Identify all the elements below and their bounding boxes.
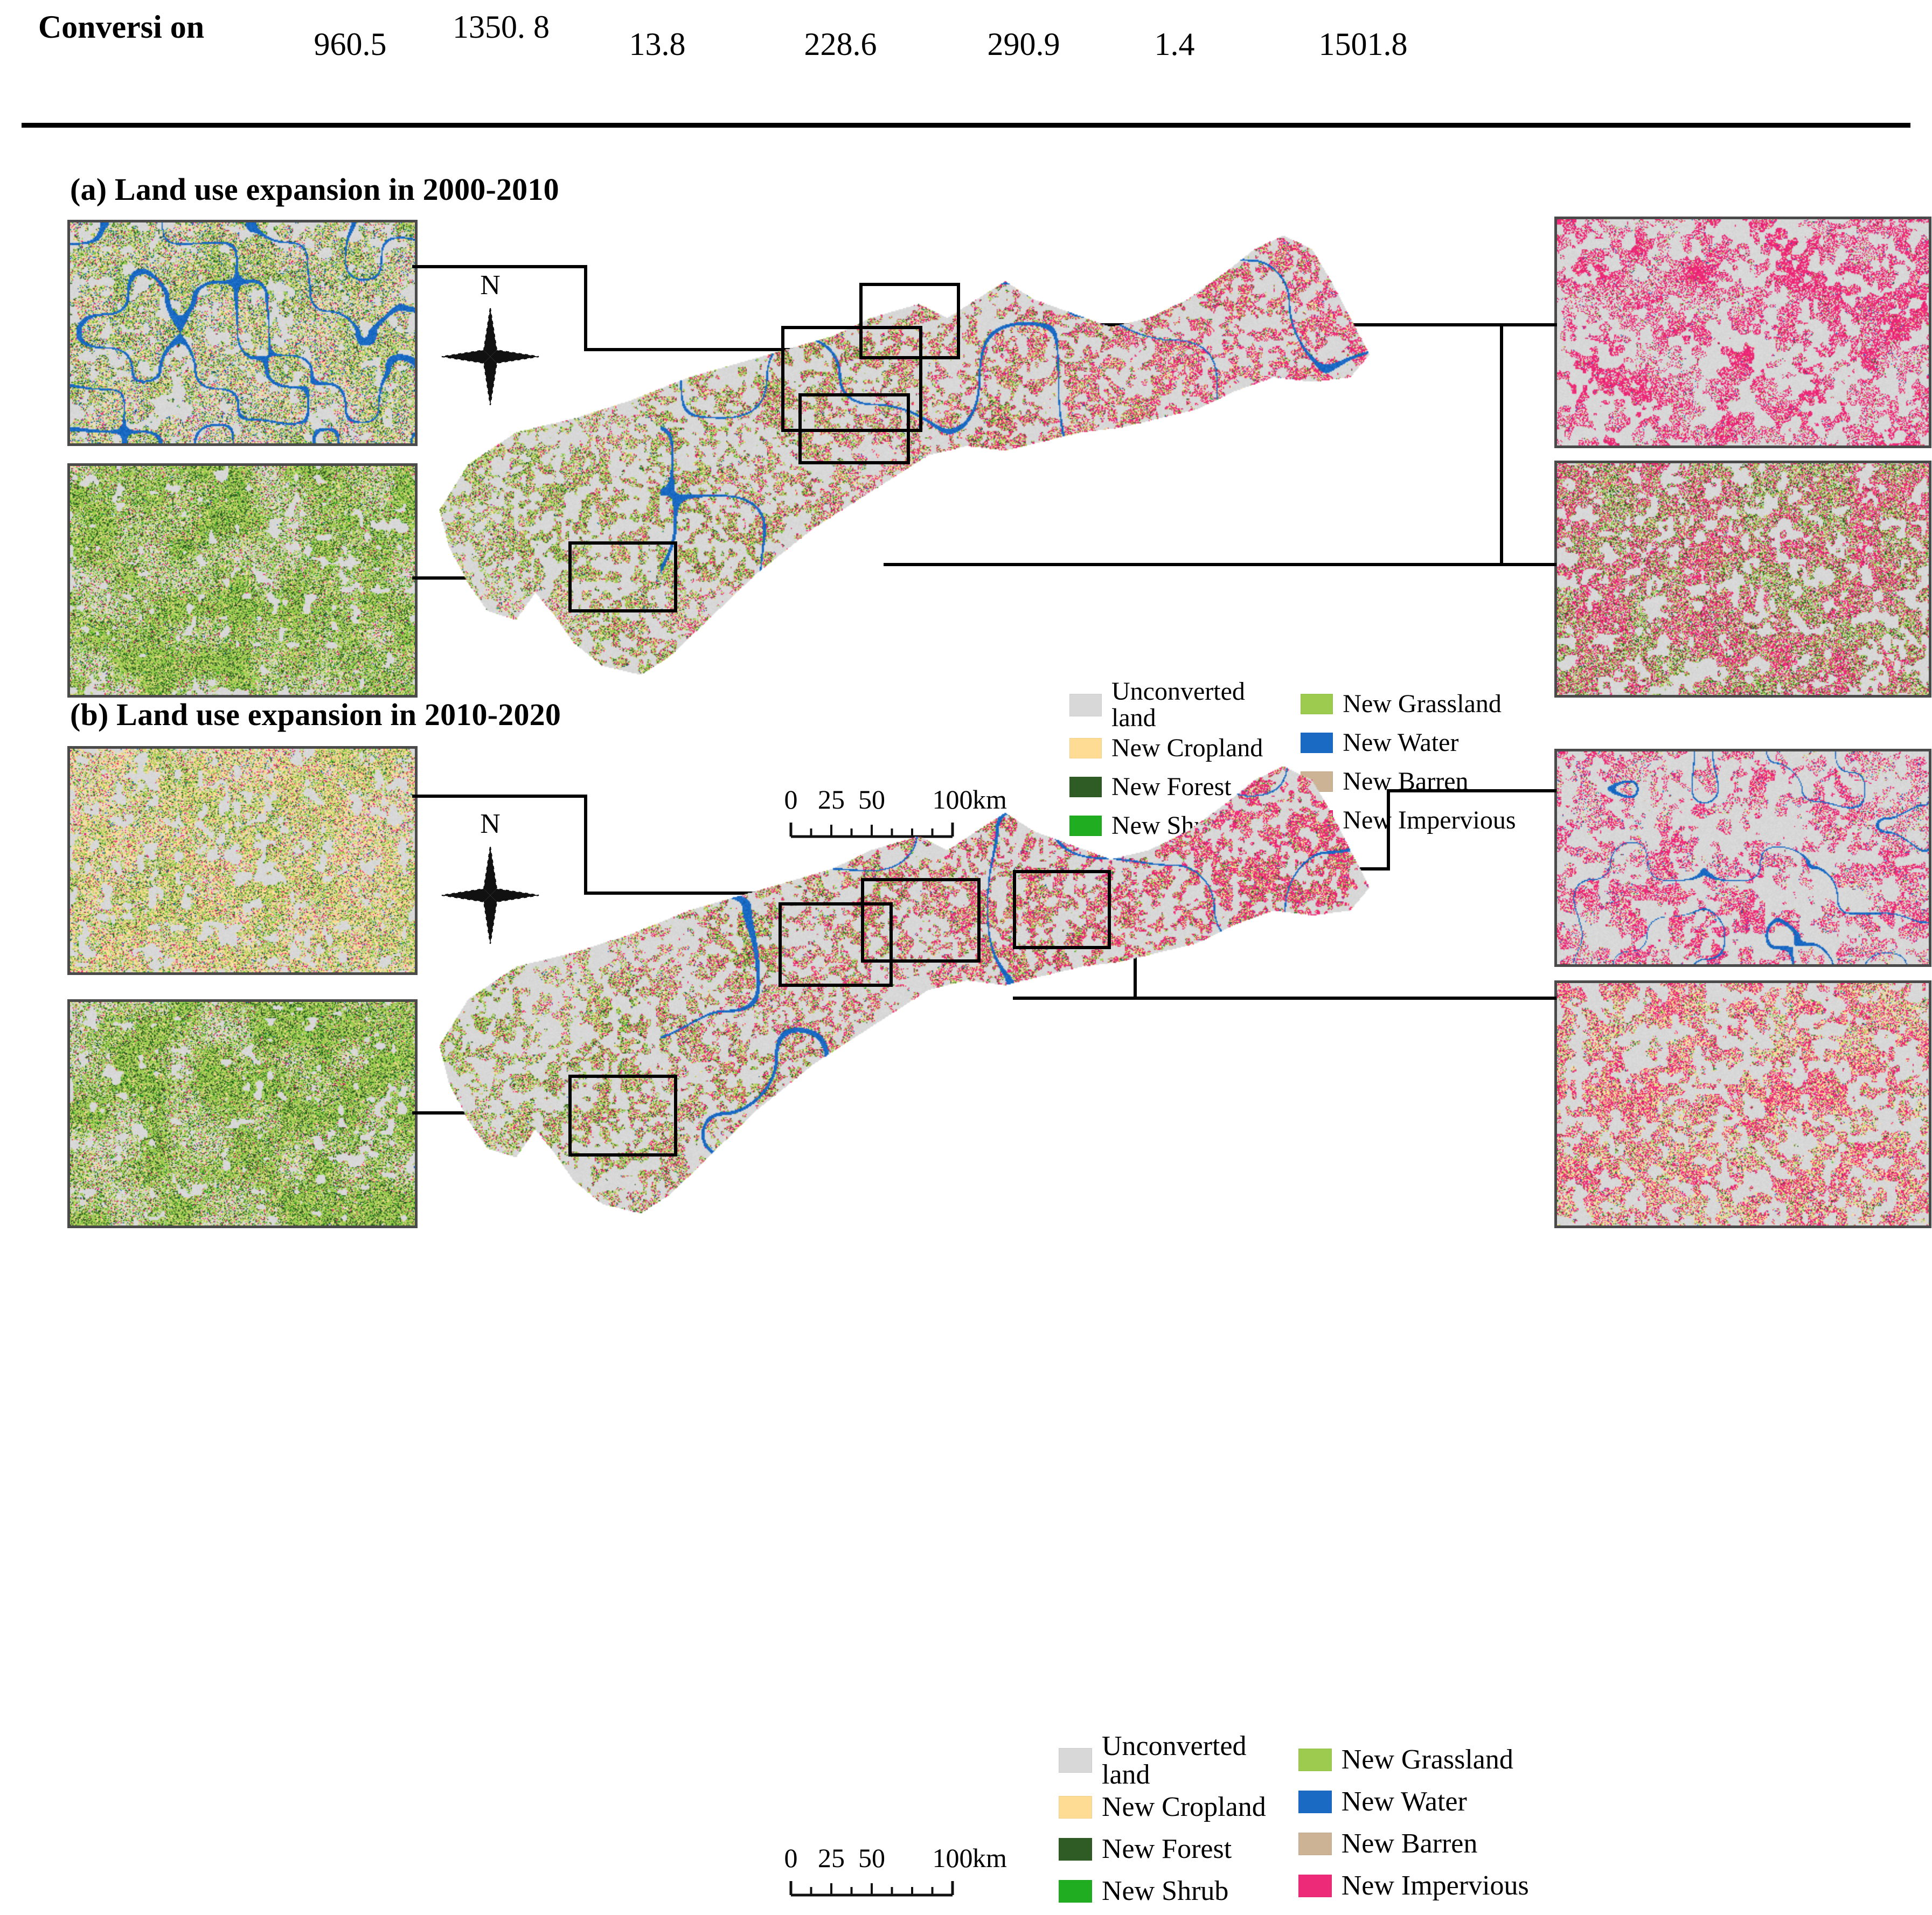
scale-bar-labels: 0 25 50 100 km — [787, 1842, 964, 1876]
panel-b-inset-top-right — [1554, 749, 1931, 967]
panel-a-inset-bottom-left — [67, 463, 418, 698]
panel-b-inset-top-left — [67, 746, 418, 975]
table-cell-value: 290.9 — [948, 27, 1099, 62]
table-cell-value: 960.5 — [280, 27, 420, 62]
locator-box — [568, 541, 677, 612]
panel-b-main-map — [420, 757, 1379, 1223]
legend-item: New Cropland — [1059, 1789, 1266, 1826]
panel-a-north-arrow: N — [436, 269, 544, 409]
panel-a: (a) Land use expansion in 2000-2010 N — [0, 162, 1932, 692]
legend-swatch-new-grassland — [1298, 1749, 1332, 1771]
table-cell-value: 1350. 8 — [447, 10, 555, 45]
locator-box — [798, 393, 910, 464]
panel-b-north-arrow: N — [436, 808, 544, 948]
leader-line — [1387, 789, 1556, 792]
panel-b: (b) Land use expansion in 2010-2020 N — [0, 692, 1932, 1224]
scale-label: 100 — [933, 1842, 973, 1874]
scale-unit: km — [972, 1842, 1007, 1874]
scale-label: 50 — [858, 1842, 885, 1874]
legend-item: New Forest — [1059, 1831, 1266, 1868]
table-cell-value: 228.6 — [765, 27, 916, 62]
panel-b-legend: Unconverted land New Cropland New Forest… — [1059, 1737, 1529, 1915]
north-label: N — [480, 269, 501, 301]
legend-swatch-new-water — [1298, 1791, 1332, 1813]
legend-item: New Grassland — [1298, 1742, 1529, 1778]
legend-label: New Shrub — [1102, 1877, 1228, 1905]
legend-label: New Water — [1342, 1787, 1467, 1816]
leader-line — [1500, 323, 1503, 563]
legend-item: New Water — [1298, 1784, 1529, 1820]
legend-label: New Forest — [1102, 1835, 1232, 1863]
legend-label: New Impervious — [1342, 1871, 1529, 1900]
locator-box — [1013, 870, 1111, 949]
panel-b-inset-bottom-right — [1554, 980, 1931, 1228]
panel-a-inset-top-left — [67, 220, 418, 446]
scale-bar-ticks — [787, 1876, 964, 1899]
legend-swatch-new-forest — [1059, 1838, 1092, 1861]
panel-b-inset-bottom-left — [67, 999, 418, 1228]
locator-box — [861, 878, 981, 963]
legend-column-right: New Grassland New Water New Barren New I… — [1298, 1737, 1529, 1915]
leader-line — [1500, 563, 1556, 566]
panel-a-title: (a) Land use expansion in 2000-2010 — [70, 171, 559, 207]
legend-column-left: Unconverted land New Cropland New Forest… — [1059, 1737, 1266, 1915]
legend-label: New Cropland — [1102, 1793, 1266, 1821]
legend-swatch-new-shrub — [1059, 1880, 1092, 1903]
legend-label: New Grassland — [1342, 1745, 1513, 1774]
table-bottom-rule — [22, 123, 1910, 128]
north-arrow-icon — [436, 841, 544, 949]
table-cell-value: 1.4 — [1121, 27, 1228, 62]
leader-line — [1387, 789, 1390, 870]
legend-item: New Shrub — [1059, 1873, 1266, 1910]
legend-swatch-new-cropland — [1059, 1796, 1092, 1819]
legend-label: New Barren — [1342, 1829, 1478, 1858]
locator-box — [859, 283, 960, 359]
table-cell-value: 13.8 — [593, 27, 722, 62]
legend-item: Unconverted land — [1059, 1737, 1266, 1784]
panel-b-title: (b) Land use expansion in 2010-2020 — [70, 697, 561, 733]
table-row-label: Conversi on — [32, 10, 210, 45]
locator-box — [568, 1075, 677, 1157]
panel-a-inset-bottom-right — [1554, 461, 1931, 698]
legend-swatch-new-barren — [1298, 1833, 1332, 1855]
scale-label: 0 — [784, 1842, 798, 1874]
legend-swatch-unconverted-land — [1059, 1748, 1092, 1773]
panel-b-scale-bar: 0 25 50 100 km — [787, 1842, 964, 1899]
north-arrow-icon — [436, 303, 544, 410]
table-cell-value: 1501.8 — [1266, 27, 1460, 62]
legend-swatch-new-impervious — [1298, 1875, 1332, 1897]
legend-item: New Impervious — [1298, 1868, 1529, 1904]
panel-a-inset-top-right — [1554, 217, 1931, 448]
legend-label: Unconverted land — [1102, 1732, 1247, 1789]
scale-label: 25 — [818, 1842, 845, 1874]
north-label: N — [480, 808, 501, 840]
table-fragment: Conversi on 960.5 1350. 8 13.8 228.6 290… — [0, 0, 1932, 135]
legend-item: New Barren — [1298, 1826, 1529, 1862]
